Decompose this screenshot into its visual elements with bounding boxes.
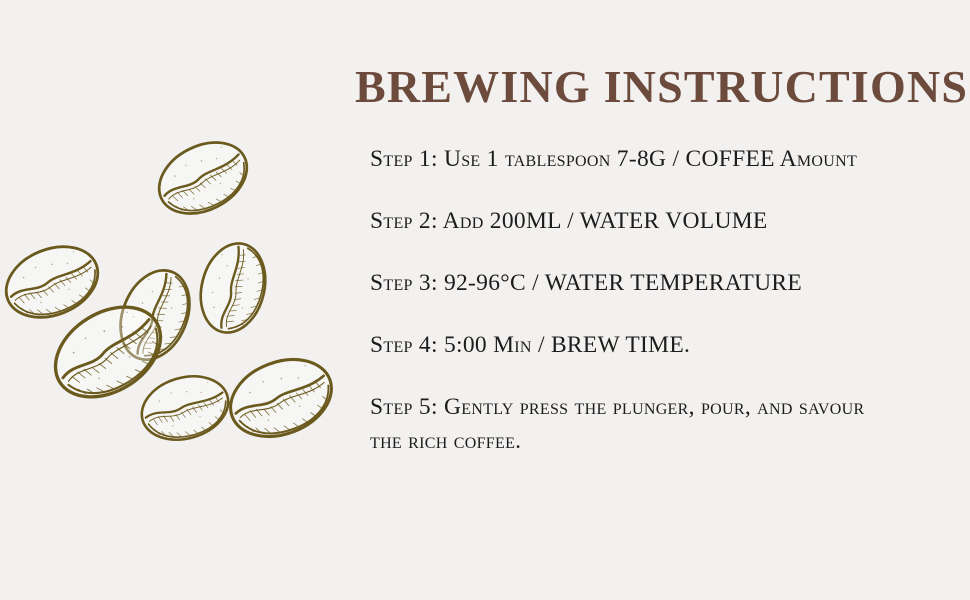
coffee-bean-4 xyxy=(192,237,274,340)
steps-list: Step 1: Use 1 tablespoon 7-8G / COFFEE A… xyxy=(370,118,910,458)
brewing-instructions-card: Brewing Instructions Step 1: Use 1 table… xyxy=(0,0,970,600)
step-item-3: Step 3: 92-96°C / WATER TEMPERATURE xyxy=(370,266,895,300)
step-item-2: Step 2: Add 200ML / WATER VOLUME xyxy=(370,204,895,238)
coffee-beans-illustration xyxy=(0,110,350,470)
coffee-bean-7 xyxy=(219,346,342,451)
instructions-panel: Brewing Instructions Step 1: Use 1 table… xyxy=(355,0,970,600)
coffee-bean-6 xyxy=(134,367,236,450)
step-item-5: Step 5: Gently press the plunger, pour, … xyxy=(370,390,895,458)
coffee-bean-1 xyxy=(147,128,259,227)
step-item-1: Step 1: Use 1 tablespoon 7-8G / COFFEE A… xyxy=(370,142,895,176)
step-item-4: Step 4: 5:00 Min / BREW TIME. xyxy=(370,328,895,362)
page-title: Brewing Instructions xyxy=(355,61,900,113)
